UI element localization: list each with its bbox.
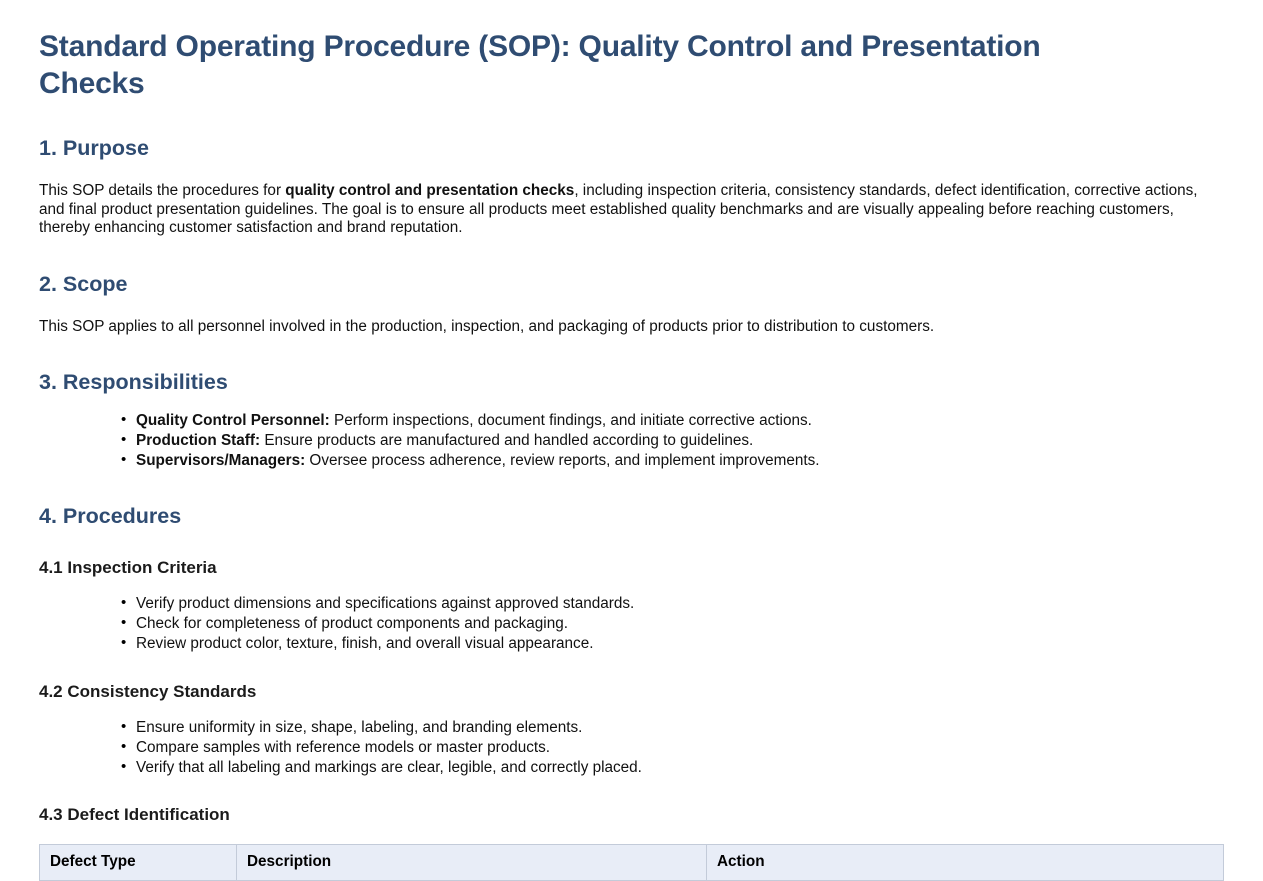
- subsection-heading-consistency-standards: 4.2 Consistency Standards: [39, 681, 1223, 703]
- scope-paragraph: This SOP applies to all personnel involv…: [39, 318, 1211, 337]
- list-item: Supervisors/Managers: Oversee process ad…: [125, 452, 1223, 471]
- purpose-text-lead: This SOP details the procedures for: [39, 182, 285, 199]
- list-item: Verify product dimensions and specificat…: [125, 595, 1223, 614]
- list-item: Verify that all labeling and markings ar…: [125, 759, 1223, 778]
- table-header-row: Defect Type Description Action: [40, 845, 1224, 881]
- section-heading-scope: 2. Scope: [39, 271, 1223, 298]
- responsibility-desc: Ensure products are manufactured and han…: [260, 432, 753, 449]
- inspection-criteria-list: Verify product dimensions and specificat…: [39, 595, 1223, 653]
- list-item: Ensure uniformity in size, shape, labeli…: [125, 719, 1223, 738]
- responsibility-desc: Oversee process adherence, review report…: [305, 452, 819, 469]
- list-item: Compare samples with reference models or…: [125, 739, 1223, 758]
- list-item: Quality Control Personnel: Perform inspe…: [125, 412, 1223, 431]
- responsibility-desc: Perform inspections, document findings, …: [330, 412, 812, 429]
- responsibilities-list: Quality Control Personnel: Perform inspe…: [39, 412, 1223, 470]
- list-item: Review product color, texture, finish, a…: [125, 635, 1223, 654]
- section-heading-procedures: 4. Procedures: [39, 503, 1223, 530]
- column-header-action: Action: [707, 845, 1224, 881]
- document-page: Standard Operating Procedure (SOP): Qual…: [0, 0, 1263, 881]
- table-head: Defect Type Description Action: [40, 845, 1224, 881]
- list-item: Check for completeness of product compon…: [125, 615, 1223, 634]
- subsection-heading-inspection-criteria: 4.1 Inspection Criteria: [39, 557, 1223, 579]
- purpose-text-emphasis: quality control and presentation checks: [285, 182, 574, 199]
- column-header-defect-type: Defect Type: [40, 845, 237, 881]
- responsibility-role: Production Staff:: [136, 432, 260, 449]
- consistency-standards-list: Ensure uniformity in size, shape, labeli…: [39, 719, 1223, 777]
- purpose-paragraph: This SOP details the procedures for qual…: [39, 182, 1211, 238]
- responsibility-role: Quality Control Personnel:: [136, 412, 330, 429]
- subsection-heading-defect-identification: 4.3 Defect Identification: [39, 804, 1223, 826]
- responsibility-role: Supervisors/Managers:: [136, 452, 305, 469]
- defect-table-container: Defect Type Description Action: [39, 844, 1223, 881]
- defect-identification-table: Defect Type Description Action: [39, 844, 1224, 881]
- list-item: Production Staff: Ensure products are ma…: [125, 432, 1223, 451]
- page-title: Standard Operating Procedure (SOP): Qual…: [39, 28, 1144, 102]
- section-heading-purpose: 1. Purpose: [39, 135, 1223, 162]
- column-header-description: Description: [237, 845, 707, 881]
- section-heading-responsibilities: 3. Responsibilities: [39, 369, 1223, 396]
